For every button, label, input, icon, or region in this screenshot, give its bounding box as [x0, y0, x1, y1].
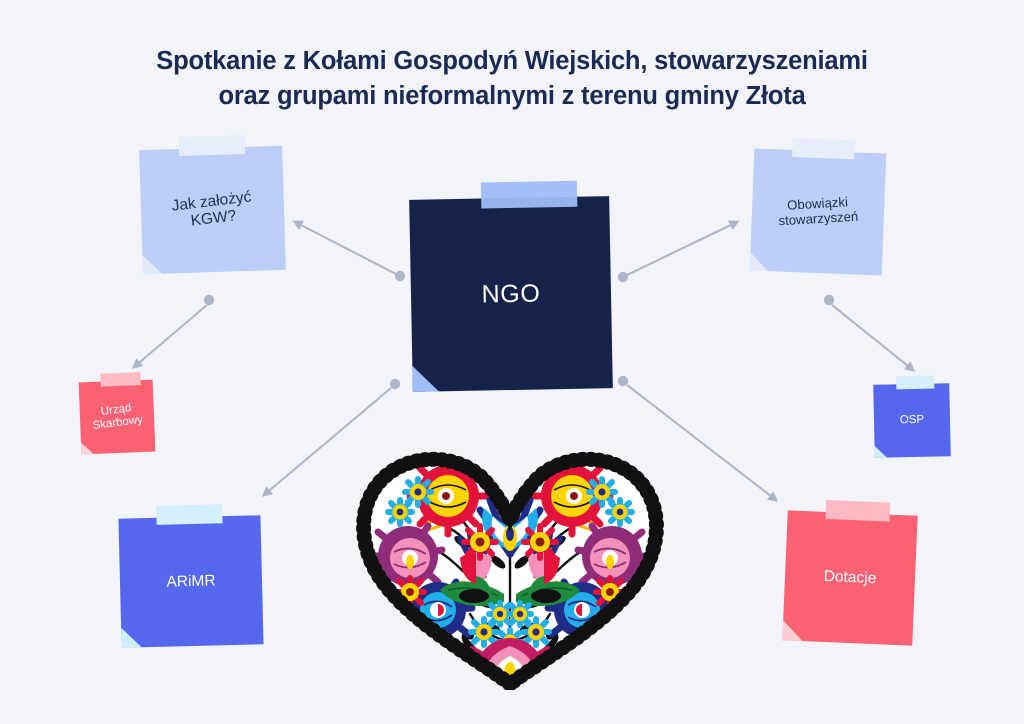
- diagram-canvas: Spotkanie z Kołami Gospodyń Wiejskich, s…: [0, 0, 1024, 724]
- page-title-line-2: oraz grupami nieformalnymi z terenu gmin…: [0, 79, 1024, 114]
- note-obowiazki-stowarzyszen[interactable]: Obowiązki stowarzyszeń: [750, 149, 887, 276]
- note-label: OSP: [873, 383, 951, 458]
- note-dotacje[interactable]: Dotacje: [782, 510, 917, 645]
- note-label: ARiMR: [118, 515, 263, 647]
- page-title: Spotkanie z Kołami Gospodyń Wiejskich, s…: [0, 44, 1024, 114]
- note-osp[interactable]: OSP: [873, 383, 951, 458]
- note-arimr[interactable]: ARiMR: [118, 515, 263, 647]
- note-label: NGO: [409, 196, 613, 392]
- note-jak-zalozyc-kgw[interactable]: Jak założyć KGW?: [139, 146, 286, 274]
- connector-ngo-to-obowiazki: [618, 222, 737, 282]
- note-label: Urząd Skarbowy: [76, 377, 158, 458]
- note-label: Dotacje: [782, 510, 917, 645]
- note-label: Jak założyć KGW?: [134, 140, 291, 280]
- connector-obowiazki-to-osp: [824, 295, 913, 370]
- note-label: Obowiązki stowarzyszeń: [749, 147, 888, 276]
- page-title-line-1: Spotkanie z Kołami Gospodyń Wiejskich, s…: [0, 44, 1024, 79]
- connector-ngo-to-kgw: [295, 222, 405, 281]
- connector-kgw-to-urzad-skarbowy: [134, 295, 214, 367]
- note-ngo-center[interactable]: NGO: [409, 196, 613, 392]
- polish-folk-heart-icon: [352, 446, 668, 690]
- note-urzad-skarbowy[interactable]: Urząd Skarbowy: [79, 380, 156, 455]
- heart-floral-pattern: [376, 458, 644, 690]
